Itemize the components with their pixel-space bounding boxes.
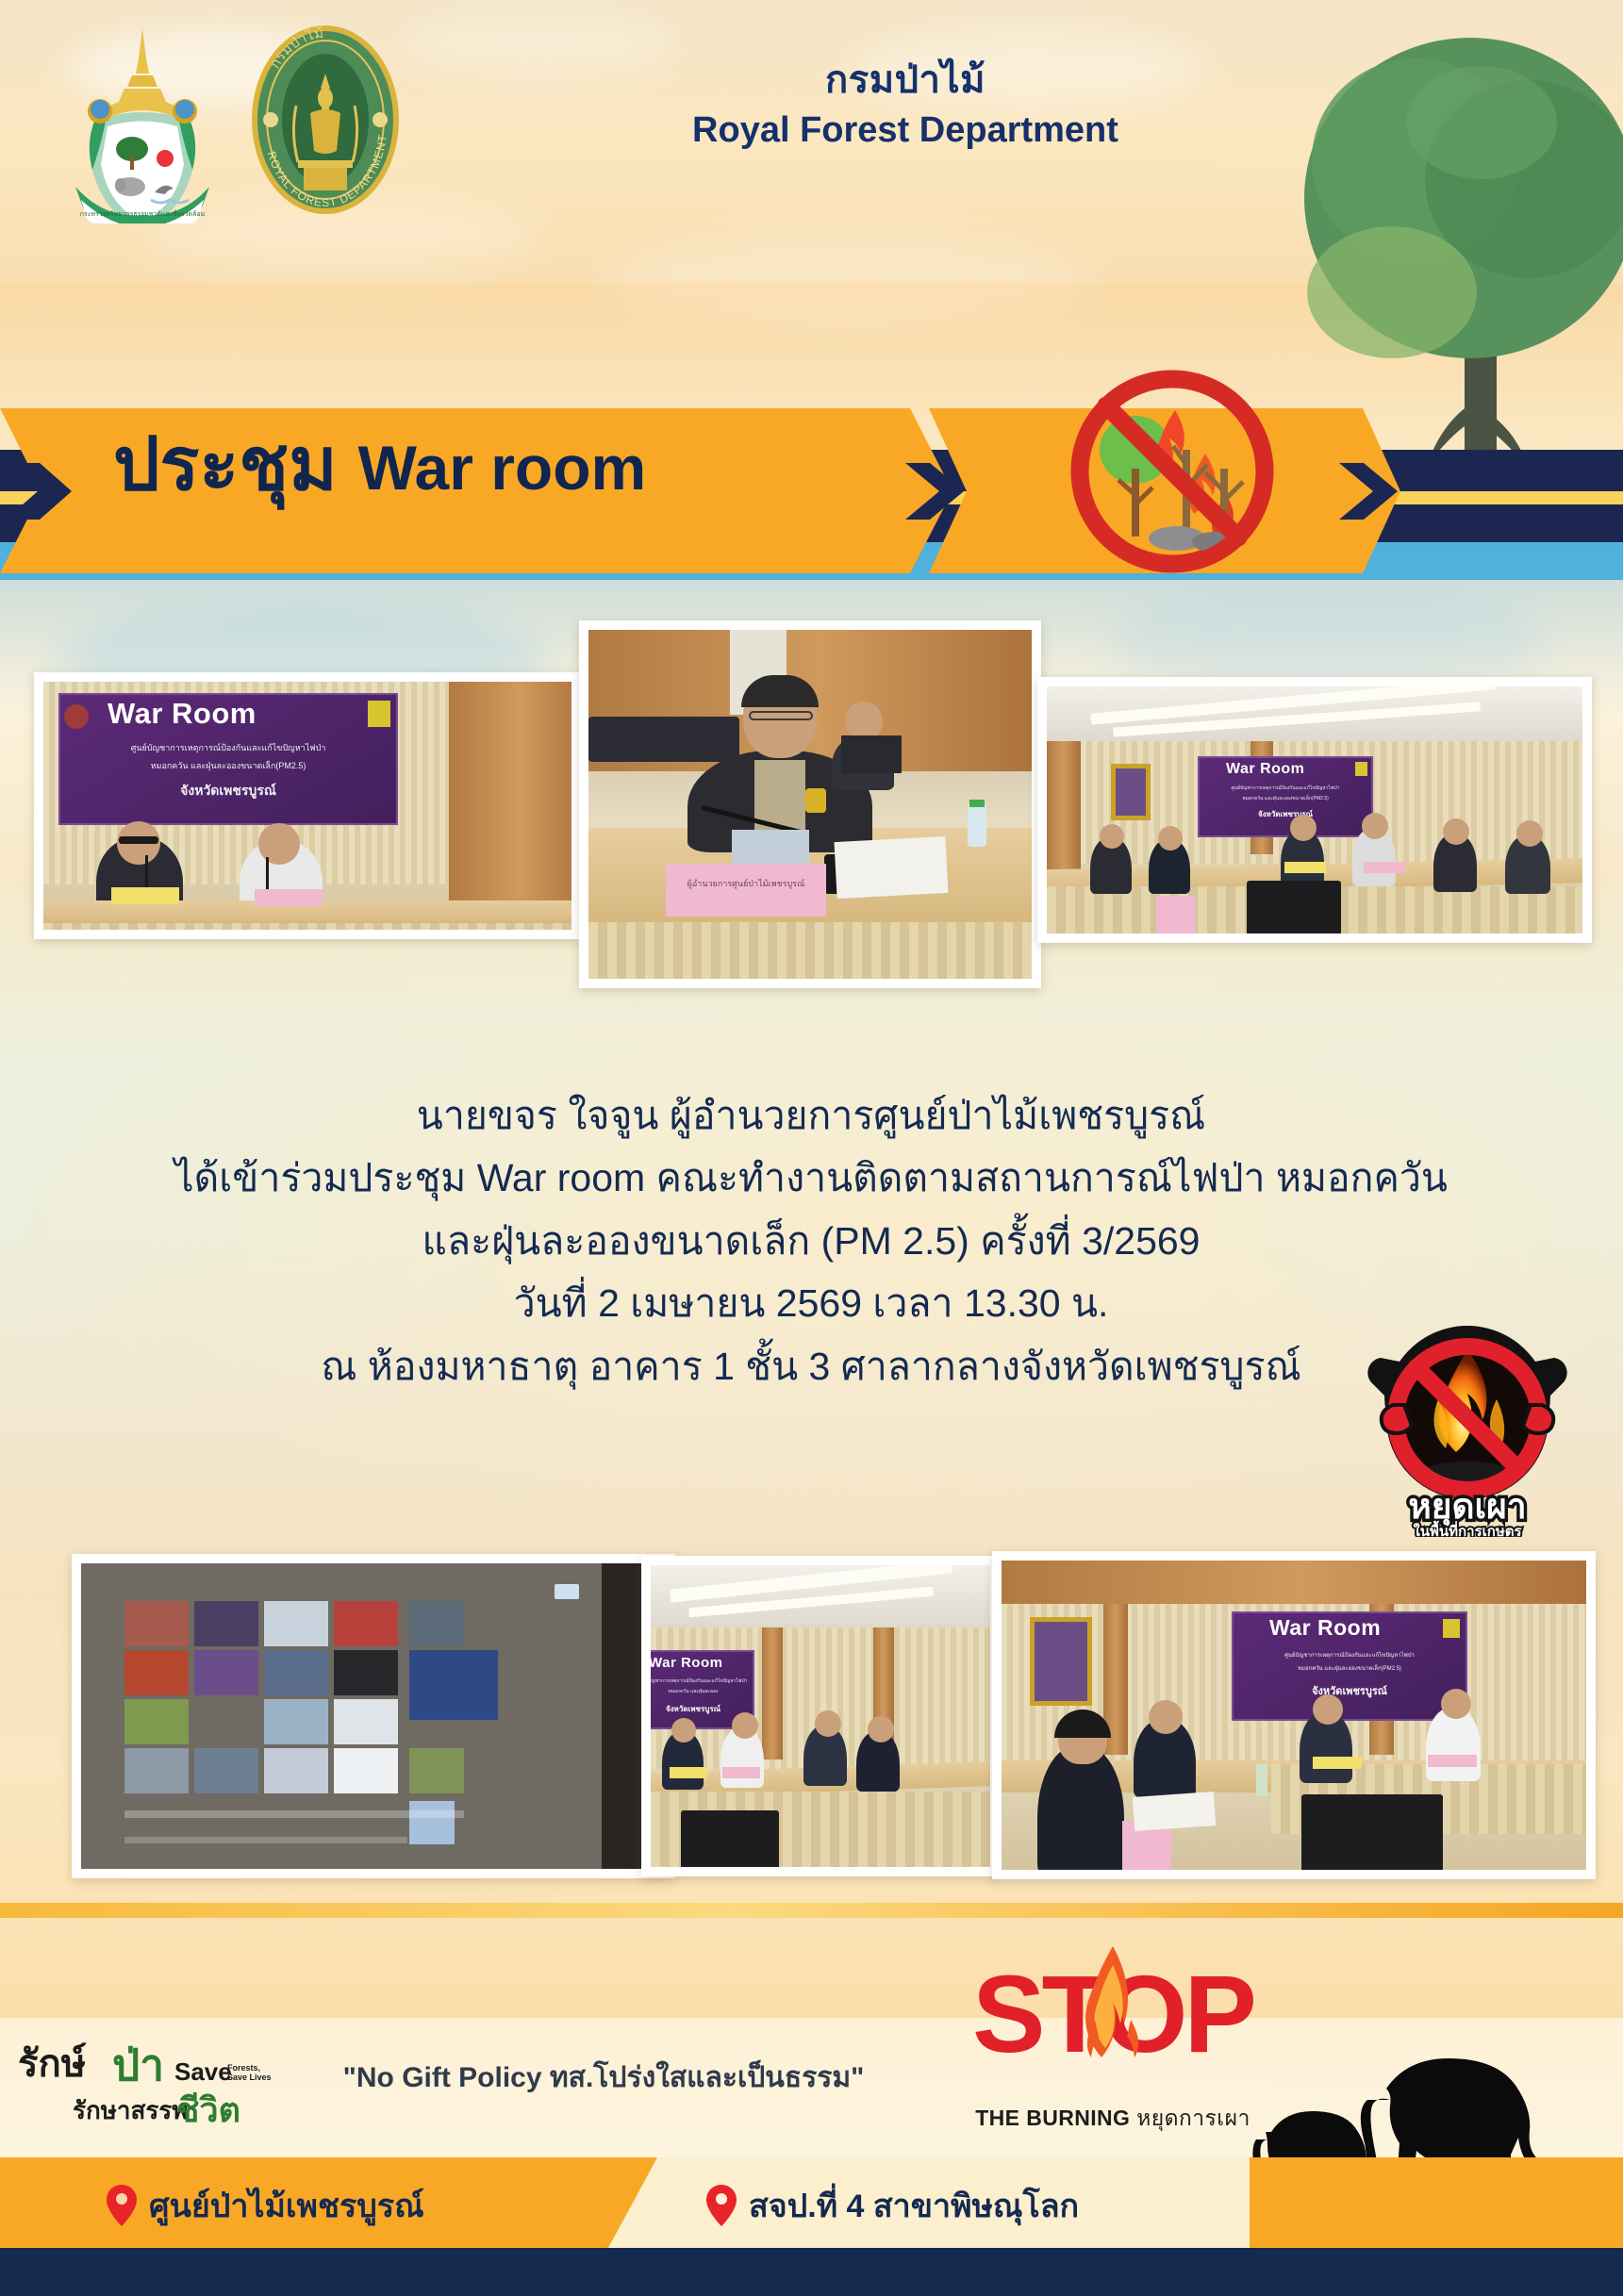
body-line-3: และฝุ่นละอองขนาดเล็ก (PM 2.5) ครั้งที่ 3… [57, 1210, 1565, 1272]
director-nameplate-text: ผู้อำนวยการศูนย์ป่าไม้เพชรบูรณ์ [673, 877, 819, 890]
bottom-bar-left-label: ศูนย์ป่าไม้เพชรบูรณ์ [149, 2180, 424, 2231]
rak-pa-logo: รักษ์ ป่า รักษาสรรพ ชีวิต Save Forests, … [14, 2027, 288, 2140]
photo-conference-room-wide: War Room ศูนย์บัญชาการเหตุการณ์ป้องกันแล… [1037, 677, 1592, 943]
stop-subtitle-en: THE BURNING [975, 2106, 1130, 2130]
poster-header: กระทรวงทรัพยากรธรรมชาติและสิ่งแวดล้อม [0, 0, 1623, 396]
wr-banner3-line3: จังหวัดเพชรบูรณ์ [1203, 808, 1367, 820]
no-gift-policy-text: "No Gift Policy ทส.โปร่งใสและเป็นธรรม" [311, 2056, 896, 2100]
wr-banner-line2: หมอกควัน และฝุ่นละอองขนาดเล็ก(PM2.5) [64, 759, 392, 772]
bottom-bar-right-item[interactable]: สจป.ที่ 4 สาขาพิษณุโลก [705, 2180, 1079, 2231]
wr-banner-line1: ศูนย์บัญชาการเหตุการณ์ป้องกันและแก้ไขปัญ… [64, 741, 392, 754]
ribbon-title-th: ประชุม [113, 427, 338, 501]
body-line-1: นายขจร ใจจูน ผู้อำนวยการศูนย์ป่าไม้เพชรบ… [57, 1084, 1565, 1147]
body-line-5: ณ ห้องมหาธาตุ อาคาร 1 ชั้น 3 ศาลากลางจัง… [57, 1335, 1565, 1397]
title-ribbon: ประชุม War room [0, 391, 1623, 594]
stop-burn-title: หยุดเผา [1408, 1487, 1526, 1528]
wr-banner3-title: War Room [1203, 762, 1367, 777]
ministry-of-natural-resources-emblem: กระทรวงทรัพยากรธรรมชาติและสิ่งแวดล้อม [58, 21, 226, 223]
wr-banner-title: War Room [64, 699, 392, 730]
bottom-bar-left-item[interactable]: ศูนย์ป่าไม้เพชรบูรณ์ [106, 2180, 424, 2231]
rak-pa-line2b: ชีวิต [176, 2090, 240, 2129]
body-line-4: วันที่ 2 เมษายน 2569 เวลา 13.30 น. [57, 1272, 1565, 1334]
stop-burning-badge: หยุดเผา ในพื้นที่การเกษตร [1365, 1318, 1570, 1537]
svg-text:Save Lives: Save Lives [227, 2073, 272, 2082]
rak-pa-line2a: รักษาสรรพ [73, 2096, 188, 2124]
royal-forest-department-seal: กรมป่าไม้ ROYAL FOREST DEPARTMENT [240, 21, 411, 219]
photo-officials-taking-notes: War Room ศูนย์บัญชาการเหตุการณ์ป้องกันแล… [992, 1551, 1596, 1879]
department-title: กรมป่าไม้ Royal Forest Department [622, 57, 1188, 154]
map-pin-icon [106, 2184, 138, 2227]
body-text-block: นายขจร ใจจูน ผู้อำนวยการศูนย์ป่าไม้เพชรบ… [57, 1084, 1565, 1397]
bottom-navy-bar [0, 2248, 1623, 2296]
body-line-2: ได้เข้าร่วมประชุม War room คณะทำงานติดตา… [57, 1147, 1565, 1209]
rak-pa-line1a: รักษ์ [18, 2042, 87, 2085]
ribbon-title-en: War room [358, 437, 647, 499]
ribbon-title-text: ประชุม War room [113, 427, 646, 501]
no-forest-burning-icon [1064, 363, 1281, 580]
svg-text:Forests,: Forests, [227, 2063, 260, 2073]
map-pin-icon [705, 2184, 737, 2227]
photo-video-conference-screen [72, 1554, 675, 1878]
rak-pa-line1b: ป่า [112, 2040, 164, 2090]
photo-director-at-table: ผู้อำนวยการศูนย์ป่าไม้เพชรบูรณ์ [579, 620, 1041, 988]
footer-divider [0, 1903, 1623, 1918]
wr-banner-line3: จังหวัดเพชรบูรณ์ [64, 781, 392, 801]
photo-war-room-banner-meeting: War Room ศูนย์บัญชาการเหตุการณ์ป้องกันแล… [34, 672, 581, 939]
emblem-group: กระทรวงทรัพยากรธรรมชาติและสิ่งแวดล้อม [58, 21, 411, 223]
photo-meeting-room-attendees: War Room ศูนย์บัญชาการเหตุการณ์ป้องกันแล… [641, 1556, 1000, 1876]
rak-pa-save: Save [174, 2057, 232, 2086]
department-title-en: Royal Forest Department [622, 107, 1188, 154]
department-title-th: กรมป่าไม้ [622, 57, 1188, 104]
bottom-bar-right-label: สจป.ที่ 4 สาขาพิษณุโลก [749, 2180, 1079, 2231]
svg-text:กระทรวงทรัพยากรธรรมชาติและสิ่ง: กระทรวงทรัพยากรธรรมชาติและสิ่งแวดล้อม [80, 209, 205, 218]
